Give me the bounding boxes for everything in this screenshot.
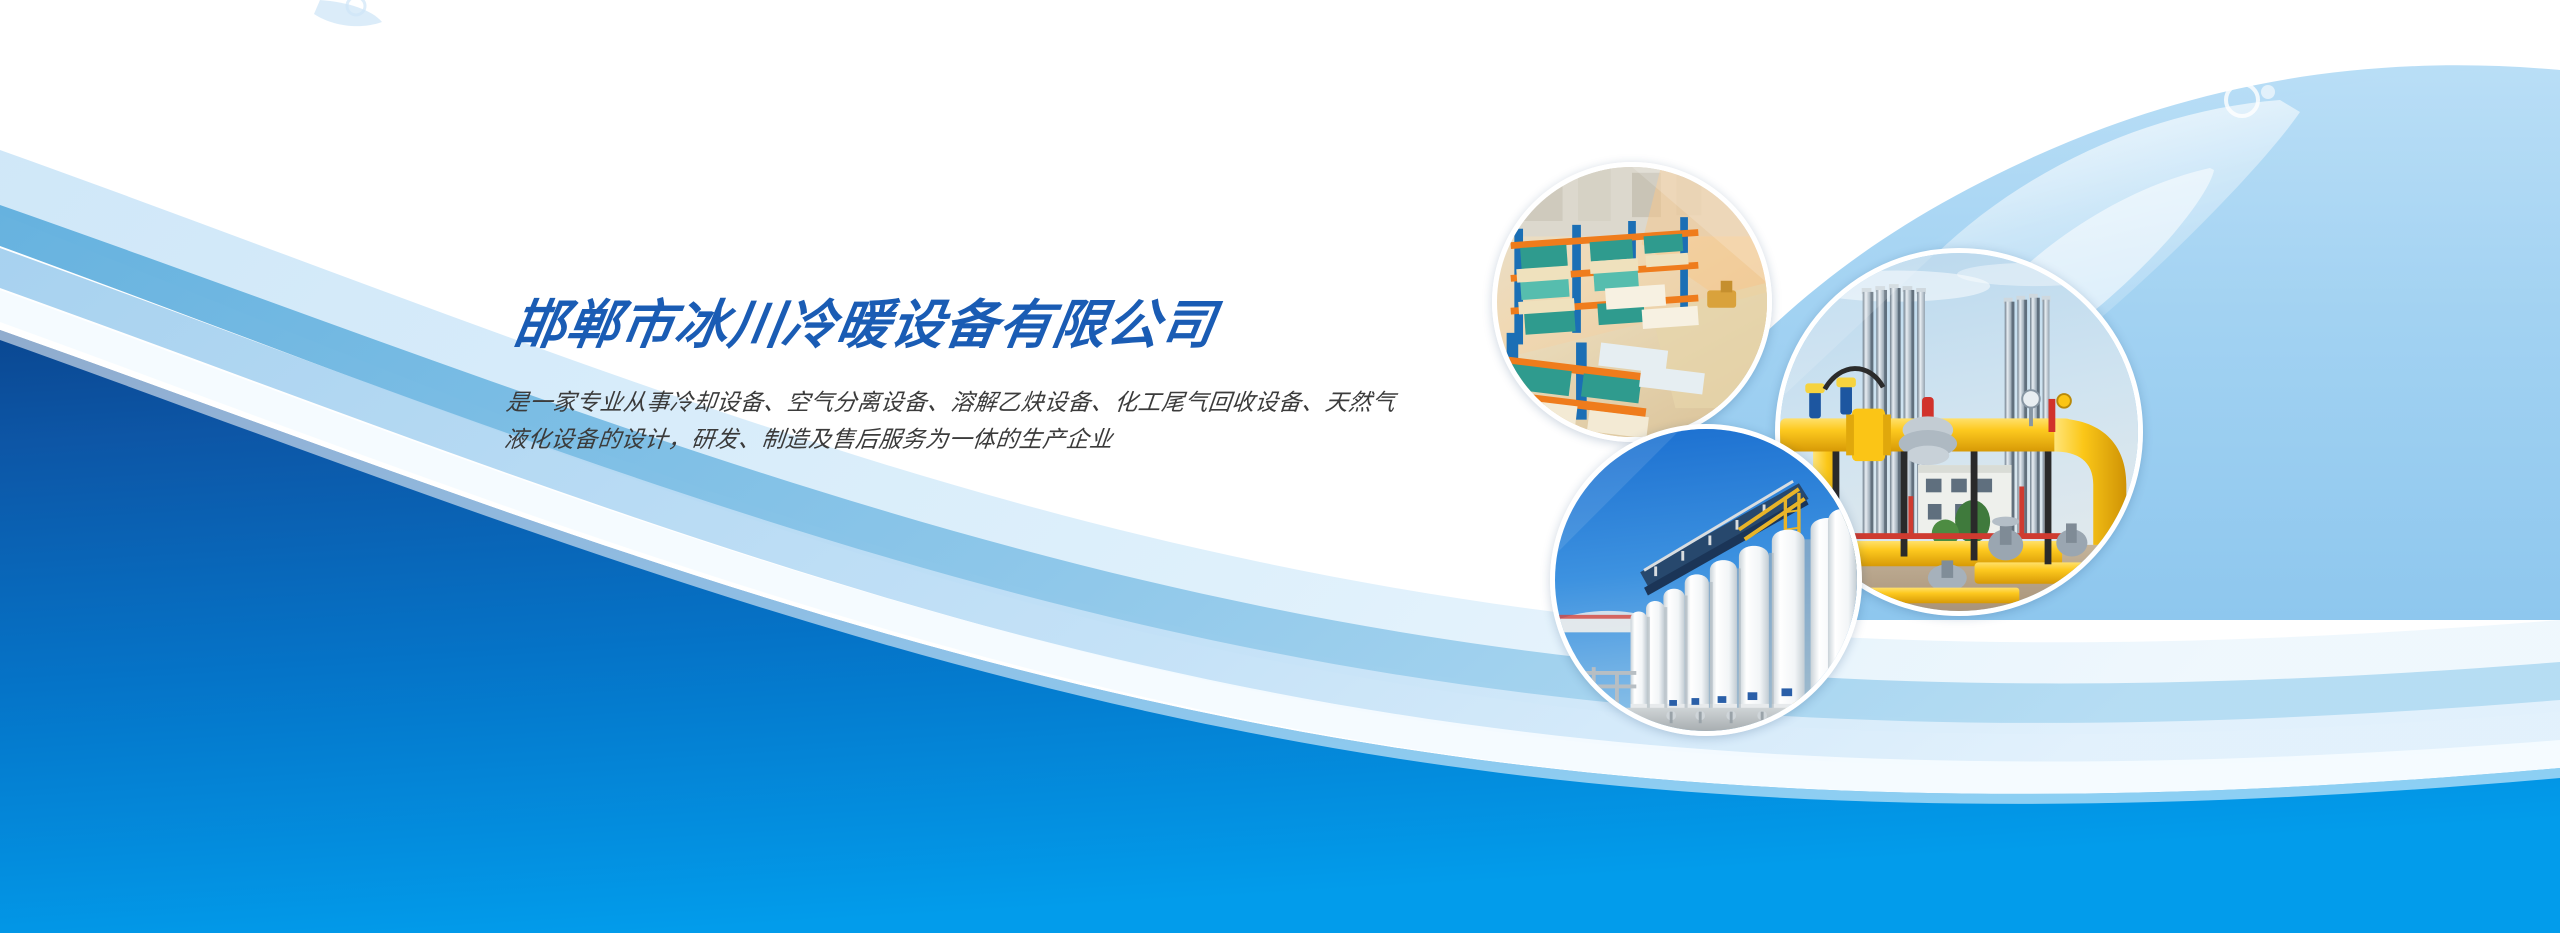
page-title: 邯郸市冰川冷暖设备有限公司 bbox=[508, 296, 1518, 357]
warehouse-photo-image bbox=[1497, 167, 1767, 437]
storage-tanks-photo-image bbox=[1555, 429, 1857, 731]
hero-text-block: 邯郸市冰川冷暖设备有限公司 是一家专业从事冷却设备、空气分离设备、溶解乙炔设备、… bbox=[508, 296, 1508, 459]
storage-tanks-photo bbox=[1550, 424, 1862, 736]
company-description: 是一家专业从事冷却设备、空气分离设备、溶解乙炔设备、化工尾气回收设备、天然气 液… bbox=[500, 385, 1488, 460]
background-deep-blue-mass bbox=[0, 0, 2560, 933]
description-line-1: 是一家专业从事冷却设备、空气分离设备、溶解乙炔设备、化工尾气回收设备、天然气 bbox=[504, 385, 1488, 422]
warehouse-photo bbox=[1492, 162, 1772, 442]
description-line-2: 液化设备的设计，研发、制造及售后服务为一体的生产企业 bbox=[500, 422, 1484, 459]
company-hero-banner: 邯郸市冰川冷暖设备有限公司 是一家专业从事冷却设备、空气分离设备、溶解乙炔设备、… bbox=[0, 0, 2560, 933]
